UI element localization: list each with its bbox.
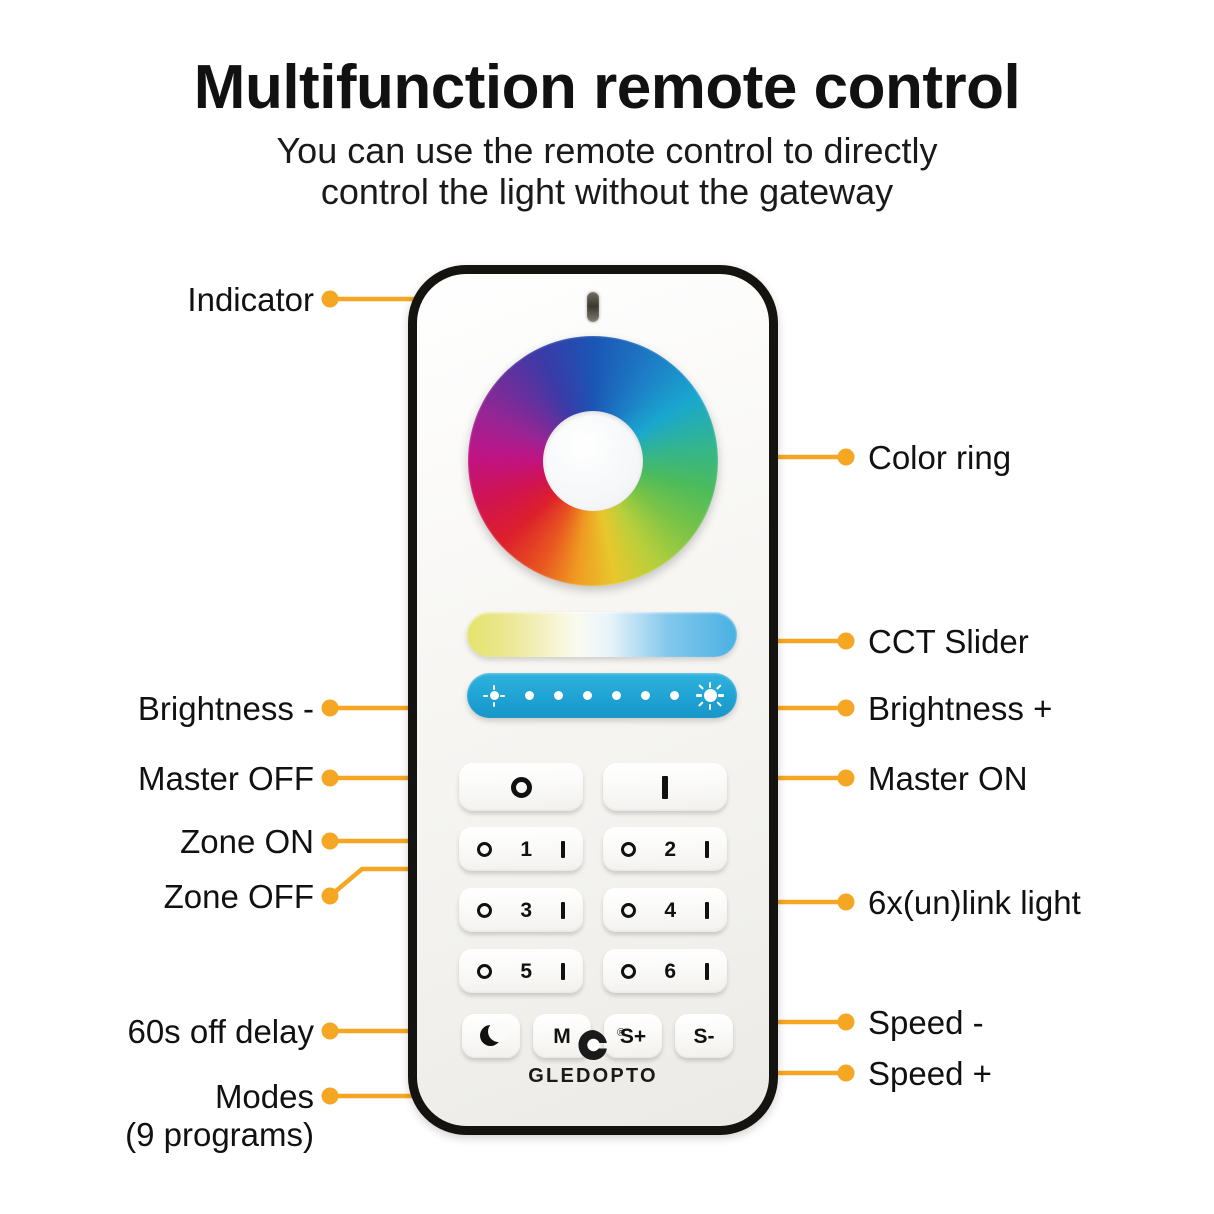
zone-number: 6 bbox=[664, 961, 676, 982]
brightness-indicator-dots bbox=[467, 673, 737, 718]
callout-off-delay: 60s off delay bbox=[40, 1013, 314, 1051]
brightness-dot bbox=[525, 691, 534, 700]
zone-on-icon bbox=[705, 902, 710, 919]
power-on-icon bbox=[662, 776, 668, 799]
brightness-dot bbox=[554, 691, 563, 700]
zone-number: 2 bbox=[664, 839, 676, 860]
gledopto-logo-icon: ® bbox=[573, 1028, 613, 1062]
zone-off-icon bbox=[477, 903, 492, 918]
callout-brightness-minus: Brightness - bbox=[40, 690, 314, 728]
zone-on-icon bbox=[561, 963, 566, 980]
brightness-dot bbox=[641, 691, 650, 700]
brightness-dot bbox=[612, 691, 621, 700]
zone-number: 5 bbox=[520, 961, 532, 982]
brand-block: ® GLEDOPTO bbox=[417, 1028, 769, 1088]
zone-button-1[interactable]: 1 bbox=[459, 827, 583, 871]
zone-on-icon bbox=[561, 902, 566, 919]
callout-modes-line-1: Modes bbox=[20, 1078, 314, 1116]
sun-small-icon bbox=[483, 685, 505, 707]
zone-off-icon bbox=[477, 842, 492, 857]
brightness-dot bbox=[583, 691, 592, 700]
callout-speed-plus: Speed + bbox=[868, 1055, 992, 1093]
zone-off-icon bbox=[621, 903, 636, 918]
zone-off-icon bbox=[477, 964, 492, 979]
zone-off-icon bbox=[621, 964, 636, 979]
indicator-led bbox=[587, 292, 599, 322]
zone-button-4[interactable]: 4 bbox=[603, 888, 727, 932]
page-subtitle: You can use the remote control to direct… bbox=[0, 130, 1214, 212]
brand-name: GLEDOPTO bbox=[528, 1065, 657, 1087]
callout-master-on: Master ON bbox=[868, 760, 1028, 798]
zone-on-icon bbox=[705, 963, 710, 980]
page-title: Multifunction remote control bbox=[0, 52, 1214, 123]
color-ring[interactable] bbox=[468, 336, 718, 586]
brightness-dot bbox=[670, 691, 679, 700]
zone-button-6[interactable]: 6 bbox=[603, 949, 727, 993]
zone-number: 3 bbox=[520, 900, 532, 921]
subtitle-line-1: You can use the remote control to direct… bbox=[0, 130, 1214, 171]
callout-zone-on: Zone ON bbox=[40, 823, 314, 861]
zone-button-5[interactable]: 5 bbox=[459, 949, 583, 993]
callout-color-ring: Color ring bbox=[868, 439, 1011, 477]
sun-large-icon bbox=[699, 685, 721, 707]
cct-slider[interactable] bbox=[467, 612, 737, 657]
callout-brightness-plus: Brightness + bbox=[868, 690, 1052, 728]
zone-number: 4 bbox=[664, 900, 676, 921]
master-on-button[interactable] bbox=[603, 763, 727, 811]
zone-button-2[interactable]: 2 bbox=[603, 827, 727, 871]
zone-off-icon bbox=[621, 842, 636, 857]
zone-number: 1 bbox=[520, 839, 532, 860]
brightness-slider[interactable] bbox=[467, 673, 737, 718]
callout-master-off: Master OFF bbox=[40, 760, 314, 798]
diagram-canvas: Multifunction remote control You can use… bbox=[0, 0, 1214, 1214]
remote-control-device: 1 2 3 4 5 bbox=[408, 265, 778, 1135]
power-off-icon bbox=[511, 777, 532, 798]
callout-indicator: Indicator bbox=[40, 281, 314, 319]
zone-on-icon bbox=[561, 841, 566, 858]
subtitle-line-2: control the light without the gateway bbox=[0, 171, 1214, 212]
callout-modes-line-2: (9 programs) bbox=[20, 1116, 314, 1154]
color-ring-center[interactable] bbox=[543, 411, 643, 511]
callout-speed-minus: Speed - bbox=[868, 1004, 984, 1042]
callout-cct-slider: CCT Slider bbox=[868, 623, 1029, 661]
registered-trademark-symbol: ® bbox=[617, 1027, 625, 1039]
zone-button-3[interactable]: 3 bbox=[459, 888, 583, 932]
callout-zone-off: Zone OFF bbox=[40, 878, 314, 916]
callout-modes: Modes (9 programs) bbox=[20, 1078, 314, 1154]
zone-on-icon bbox=[705, 841, 710, 858]
callout-link-light: 6x(un)link light bbox=[868, 884, 1081, 922]
master-off-button[interactable] bbox=[459, 763, 583, 811]
